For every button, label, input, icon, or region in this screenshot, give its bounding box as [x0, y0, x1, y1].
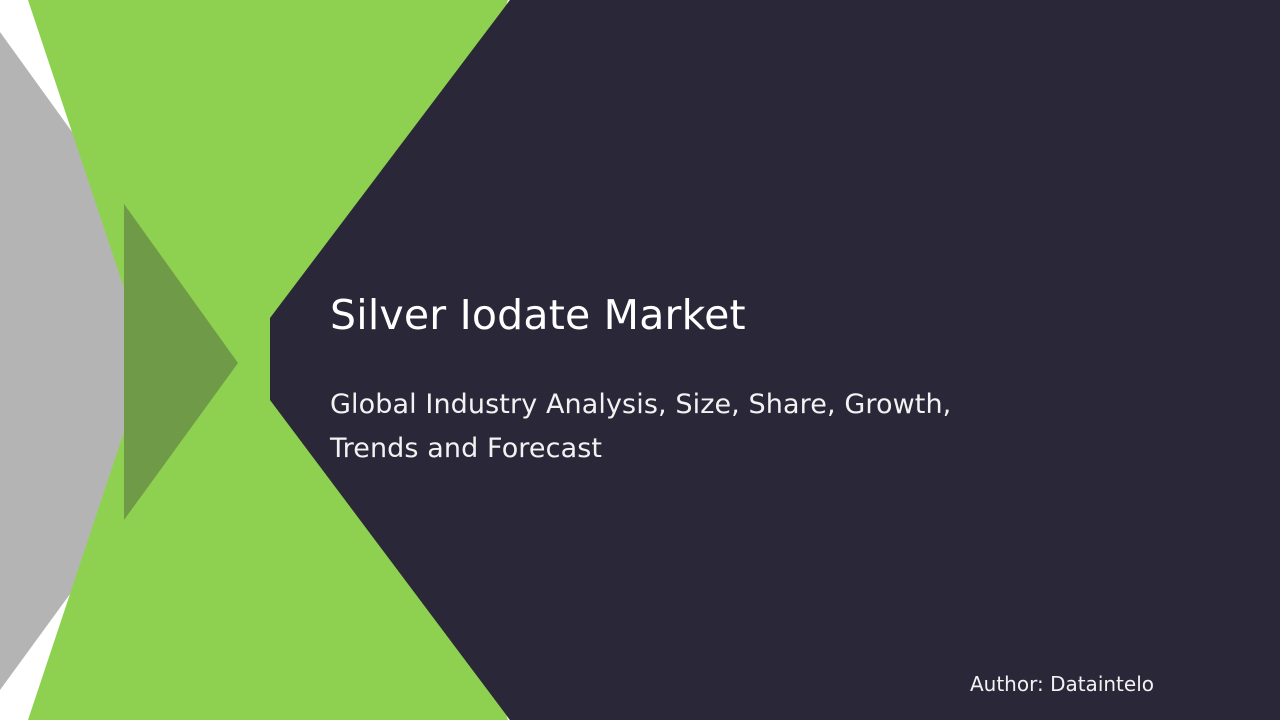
author-credit: Author: Dataintelo — [970, 671, 1154, 697]
presentation-slide: Silver Iodate Market Global Industry Ana… — [0, 0, 1280, 720]
slide-subtitle: Global Industry Analysis, Size, Share, G… — [330, 383, 1030, 471]
subtitle-line-1: Global Industry Analysis, Size, Share, G… — [330, 383, 1030, 427]
subtitle-line-2: Trends and Forecast — [330, 427, 1030, 471]
slide-title: Silver Iodate Market — [330, 291, 1160, 339]
slide-content: Silver Iodate Market Global Industry Ana… — [0, 0, 1280, 720]
